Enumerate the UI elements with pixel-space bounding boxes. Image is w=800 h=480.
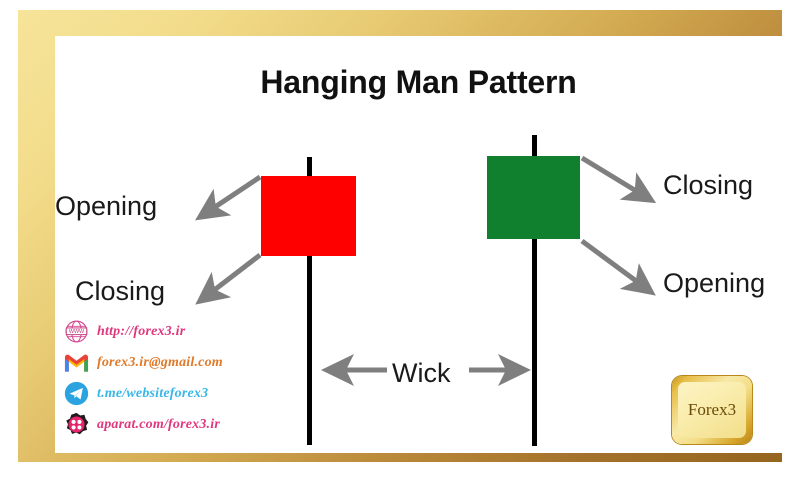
arrow-right-closing [582, 158, 651, 200]
aparat-icon [63, 412, 89, 438]
contact-text-email: forex3.ir@gmail.com [97, 355, 223, 371]
telegram-icon [63, 381, 89, 407]
label-opening-left: Opening [55, 191, 157, 222]
label-closing-left: Closing [75, 276, 165, 307]
www-globe-icon: WWW [63, 319, 89, 345]
forex3-logo-inner: Forex3 [678, 382, 746, 438]
infographic-root: Hanging Man Pattern [0, 0, 800, 480]
contact-row-aparat[interactable]: aparat.com/forex3.ir [63, 409, 323, 440]
gmail-icon [63, 350, 89, 376]
contact-row-website[interactable]: WWW http://forex3.ir [63, 316, 323, 347]
gold-frame: Hanging Man Pattern [18, 10, 782, 462]
label-wick: Wick [392, 358, 450, 389]
label-closing-right: Closing [663, 170, 753, 201]
bearish-candle-body [261, 176, 356, 256]
contact-list: WWW http://forex3.ir forex3.i [63, 316, 323, 440]
svg-text:WWW: WWW [68, 329, 84, 335]
arrow-left-closing [200, 255, 260, 301]
arrow-right-opening [582, 241, 651, 292]
forex3-logo-text: Forex3 [688, 400, 736, 420]
label-opening-right: Opening [663, 268, 765, 299]
contact-text-website: http://forex3.ir [97, 324, 185, 340]
white-canvas: Hanging Man Pattern [55, 36, 782, 453]
contact-text-aparat: aparat.com/forex3.ir [97, 417, 220, 433]
arrow-left-opening [200, 177, 260, 217]
contact-text-telegram: t.me/websiteforex3 [97, 386, 208, 402]
contact-row-email[interactable]: forex3.ir@gmail.com [63, 347, 323, 378]
contact-row-telegram[interactable]: t.me/websiteforex3 [63, 378, 323, 409]
bullish-candle-body [487, 156, 580, 239]
forex3-logo-badge[interactable]: Forex3 [672, 376, 752, 444]
page-title: Hanging Man Pattern [55, 64, 782, 101]
